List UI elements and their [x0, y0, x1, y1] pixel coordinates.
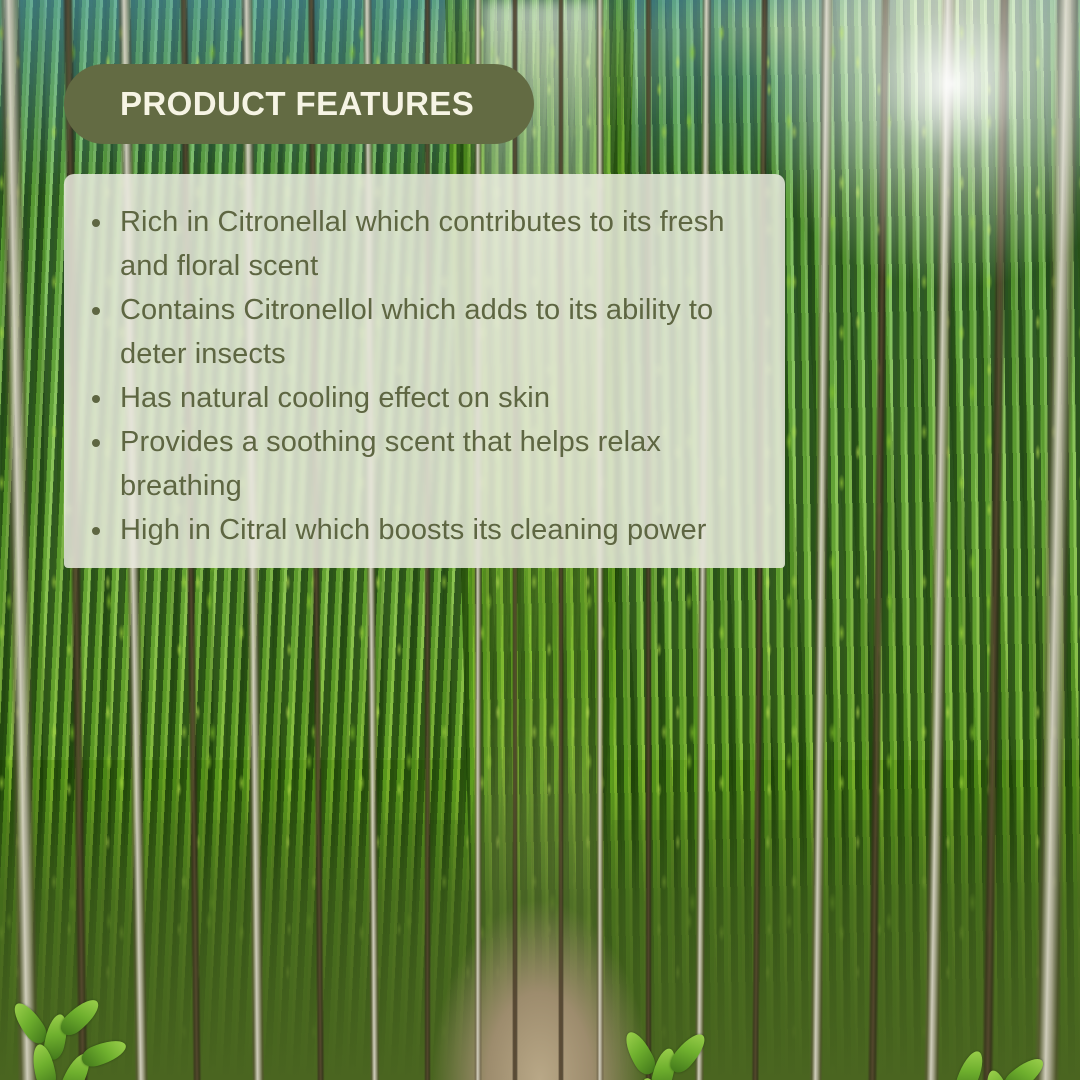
features-list: Rich in Citronellal which contributes to… — [86, 200, 765, 552]
list-item: Rich in Citronellal which contributes to… — [86, 200, 765, 288]
feature-text: Has natural cooling effect on skin — [120, 382, 550, 414]
feature-text: Provides a soothing scent that helps rel… — [120, 426, 661, 502]
forest-floor-path — [0, 780, 1080, 1080]
list-item: Has natural cooling effect on skin — [86, 376, 765, 420]
features-panel: Rich in Citronellal which contributes to… — [64, 174, 785, 568]
product-features-title-pill: PRODUCT FEATURES — [64, 64, 534, 144]
bullet-icon — [92, 439, 100, 447]
bullet-icon — [92, 307, 100, 315]
feature-text: Contains Citronellol which adds to its a… — [120, 294, 713, 370]
feature-text: Rich in Citronellal which contributes to… — [120, 206, 725, 282]
list-item: High in Citral which boosts its cleaning… — [86, 508, 765, 552]
list-item: Provides a soothing scent that helps rel… — [86, 420, 765, 508]
bullet-icon — [92, 527, 100, 535]
bullet-icon — [92, 395, 100, 403]
page-title: PRODUCT FEATURES — [120, 85, 474, 123]
bullet-icon — [92, 219, 100, 227]
feature-text: High in Citral which boosts its cleaning… — [120, 514, 706, 546]
product-features-graphic: PRODUCT FEATURES Rich in Citronellal whi… — [0, 0, 1080, 1080]
list-item: Contains Citronellol which adds to its a… — [86, 288, 765, 376]
